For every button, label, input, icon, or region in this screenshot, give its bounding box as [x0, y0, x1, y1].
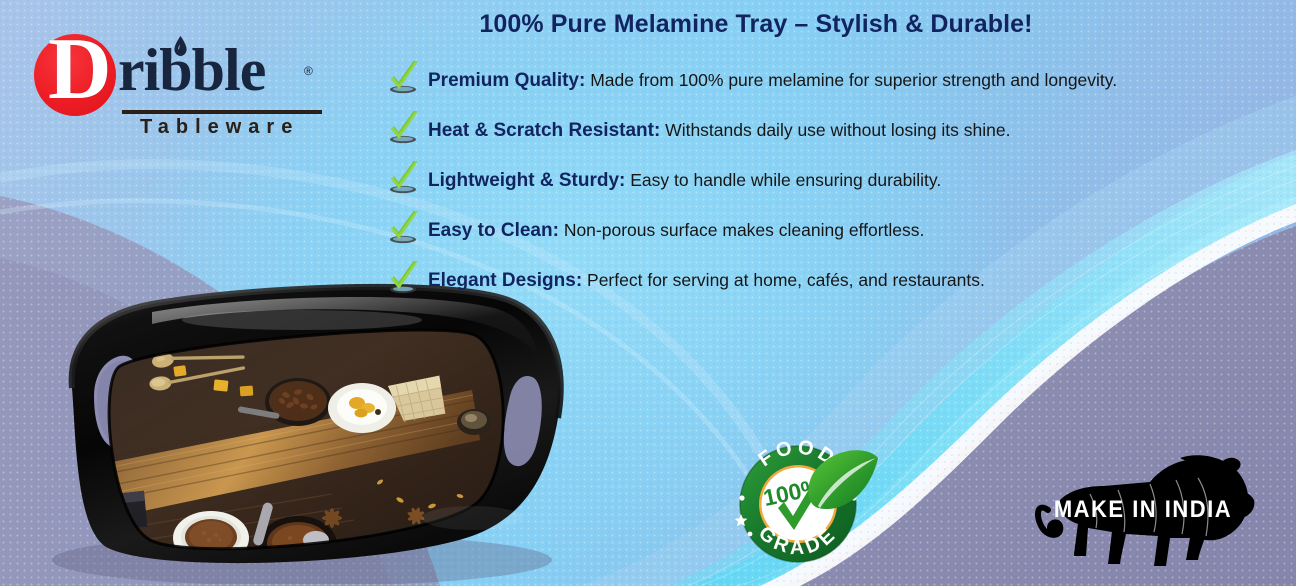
- feature-item: Premium Quality: Made from 100% pure mel…: [388, 56, 1268, 106]
- feature-text: Heat & Scratch Resistant: Withstands dai…: [428, 121, 1010, 142]
- product-image-tray[interactable]: [2, 268, 602, 584]
- logo-subtitle: Tableware: [140, 116, 299, 139]
- feature-item: Heat & Scratch Resistant: Withstands dai…: [388, 106, 1268, 156]
- green-check-icon: [388, 60, 422, 96]
- feature-item: Lightweight & Sturdy: Easy to handle whi…: [388, 156, 1268, 206]
- feature-title: Easy to Clean:: [428, 220, 559, 241]
- food-grade-badge: FOOD GRADE 100%: [728, 432, 884, 582]
- green-check-icon: [388, 110, 422, 146]
- feature-description: Withstands daily use without losing its …: [665, 120, 1010, 140]
- brand-logo[interactable]: D ribble ® Tableware: [30, 18, 320, 128]
- feature-text: Elegant Designs: Perfect for serving at …: [428, 271, 985, 292]
- feature-description: Non-porous surface makes cleaning effort…: [564, 220, 925, 240]
- feature-text: Premium Quality: Made from 100% pure mel…: [428, 71, 1117, 92]
- registered-mark: ®: [304, 64, 313, 78]
- green-check-icon: [388, 210, 422, 246]
- feature-text: Lightweight & Sturdy: Easy to handle whi…: [428, 171, 941, 192]
- feature-text: Easy to Clean: Non-porous surface makes …: [428, 221, 924, 242]
- promotional-banner: D ribble ® Tableware 100% Pure Melamine …: [0, 0, 1296, 586]
- logo-divider-rule: [122, 110, 322, 114]
- make-in-india-logo: MAKE IN INDIA: [1030, 438, 1256, 582]
- feature-description: Made from 100% pure melamine for superio…: [590, 70, 1117, 90]
- feature-description: Perfect for serving at home, cafés, and …: [587, 270, 985, 290]
- feature-title: Lightweight & Sturdy:: [428, 170, 625, 191]
- feature-item: Elegant Designs: Perfect for serving at …: [388, 256, 1268, 306]
- green-check-icon: [388, 260, 422, 296]
- feature-title: Heat & Scratch Resistant:: [428, 120, 660, 141]
- feature-title: Premium Quality:: [428, 70, 585, 91]
- green-check-icon: [388, 160, 422, 196]
- feature-title: Elegant Designs:: [428, 270, 582, 291]
- feature-description: Easy to handle while ensuring durability…: [630, 170, 941, 190]
- banner-headline: 100% Pure Melamine Tray – Stylish & Dura…: [416, 10, 1096, 39]
- logo-wordmark: ribble: [118, 40, 265, 100]
- feature-list: Premium Quality: Made from 100% pure mel…: [388, 56, 1268, 306]
- feature-item: Easy to Clean: Non-porous surface makes …: [388, 206, 1268, 256]
- logo-letter-d: D: [48, 26, 112, 114]
- water-drop-icon: [174, 36, 187, 56]
- make-in-india-text: MAKE IN INDIA: [1054, 495, 1232, 522]
